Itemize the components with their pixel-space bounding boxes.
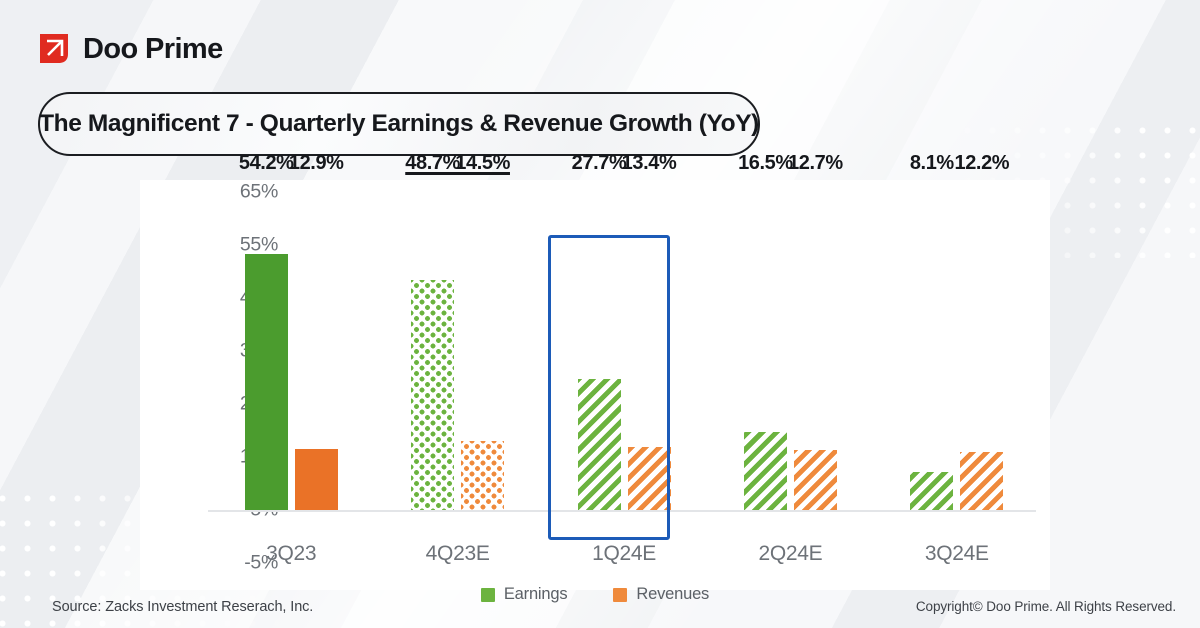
- bar-value-label: 12.9%: [289, 152, 344, 175]
- bar-revenues-2Q24E[interactable]: [794, 450, 837, 510]
- bar-group-1Q24E: 27.7% 13.4%: [541, 180, 707, 540]
- bar-wrap-revenues: 12.9%: [295, 180, 338, 510]
- bar-wrap-revenues: 12.2%: [960, 180, 1003, 510]
- legend-item-earnings[interactable]: Earnings: [481, 585, 568, 604]
- page-title: The Magnificent 7 - Quarterly Earnings &…: [39, 110, 759, 138]
- bar-wrap-revenues: 13.4%: [628, 180, 671, 510]
- x-axis-tick-3Q24E: 3Q24E: [874, 542, 1040, 578]
- bar-group-3Q24E: 8.1% 12.2%: [874, 180, 1040, 540]
- bar-revenues-3Q23[interactable]: [295, 449, 338, 510]
- bar-wrap-earnings: 54.2%: [245, 180, 288, 510]
- bar-group-3Q23: 54.2% 12.9%: [208, 180, 374, 540]
- bar-wrap-earnings: 16.5%: [744, 180, 787, 510]
- x-axis-tick-3Q23: 3Q23: [208, 542, 374, 578]
- bar-value-label: 16.5%: [738, 152, 793, 175]
- legend-item-revenues[interactable]: Revenues: [613, 585, 709, 604]
- bar-value-label: 48.7%: [405, 152, 460, 175]
- bar-earnings-4Q23E[interactable]: [411, 280, 454, 510]
- bar-revenues-3Q24E[interactable]: [960, 452, 1003, 510]
- bar-wrap-earnings: 8.1%: [910, 180, 953, 510]
- x-axis-tick-1Q24E: 1Q24E: [541, 542, 707, 578]
- chart-panel: 65% 55% 45% 35% 25% 15% 5% -5% 54.2% 12.…: [140, 180, 1050, 590]
- bar-groups: 54.2% 12.9% 48.7% 14.5%: [208, 180, 1040, 540]
- legend-label-revenues: Revenues: [636, 585, 709, 604]
- bar-earnings-1Q24E[interactable]: [578, 379, 621, 510]
- chart-title-pill: The Magnificent 7 - Quarterly Earnings &…: [38, 92, 760, 156]
- doo-prime-flag-icon: [38, 32, 72, 66]
- bar-value-label: 14.5%: [455, 152, 510, 175]
- brand-name: Doo Prime: [83, 33, 223, 66]
- source-note: Source: Zacks Investment Reserach, Inc.: [52, 599, 313, 615]
- bar-value-label: 54.2%: [239, 152, 294, 175]
- bar-earnings-3Q24E[interactable]: [910, 472, 953, 510]
- bar-wrap-earnings: 27.7%: [578, 180, 621, 510]
- bar-group-2Q24E: 16.5% 12.7%: [707, 180, 873, 540]
- bar-value-label: 27.7%: [572, 152, 627, 175]
- bar-value-label: 12.2%: [954, 152, 1009, 175]
- bar-revenues-4Q23E[interactable]: [461, 441, 504, 510]
- x-axis: 3Q23 4Q23E 1Q24E 2Q24E 3Q24E: [208, 542, 1040, 578]
- bar-earnings-3Q23[interactable]: [245, 254, 288, 510]
- brand-logo: Doo Prime: [38, 32, 223, 66]
- bar-wrap-revenues: 12.7%: [794, 180, 837, 510]
- bar-wrap-revenues: 14.5%: [461, 180, 504, 510]
- bar-value-label: 12.7%: [788, 152, 843, 175]
- bar-group-4Q23E: 48.7% 14.5%: [374, 180, 540, 540]
- bar-earnings-2Q24E[interactable]: [744, 432, 787, 510]
- bar-revenues-1Q24E[interactable]: [628, 447, 671, 510]
- bar-wrap-earnings: 48.7%: [411, 180, 454, 510]
- legend-swatch-revenues: [613, 588, 627, 602]
- bar-value-label: 13.4%: [622, 152, 677, 175]
- plot-area: 65% 55% 45% 35% 25% 15% 5% -5% 54.2% 12.…: [140, 180, 1050, 540]
- legend-swatch-earnings: [481, 588, 495, 602]
- legend-label-earnings: Earnings: [504, 585, 568, 604]
- copyright-note: Copyright© Doo Prime. All Rights Reserve…: [916, 599, 1176, 614]
- x-axis-tick-2Q24E: 2Q24E: [707, 542, 873, 578]
- x-axis-tick-4Q23E: 4Q23E: [374, 542, 540, 578]
- bar-value-label: 8.1%: [910, 152, 954, 175]
